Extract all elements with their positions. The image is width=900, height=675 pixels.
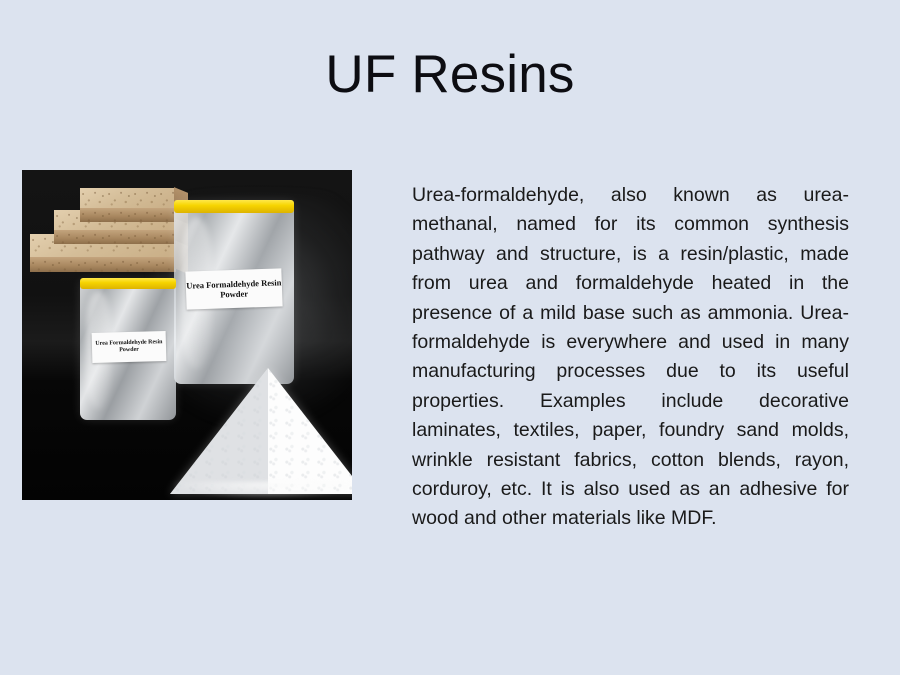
bag-seal-strip [174,200,294,213]
board-edge [80,208,176,222]
board-edge-texture [30,257,176,272]
powder-pile [170,362,352,494]
board-edge [54,230,176,244]
board-edge-texture [80,208,176,222]
board-top [80,188,176,222]
slide: UF Resins [0,0,900,675]
bag-label-large: Urea Formaldehyde Resin Powder [185,268,282,309]
board-edge [30,257,176,272]
bag-label-small: Urea Formaldehyde Resin Powder [92,331,167,363]
resin-bag-large: Urea Formaldehyde Resin Powder [174,202,294,384]
bag-seal-strip [80,278,176,289]
resin-bag-small: Urea Formaldehyde Resin Powder [80,280,176,420]
powder-base-reflection [172,482,352,498]
board-edge-texture [54,230,176,244]
page-title: UF Resins [0,46,900,104]
product-photo: Urea Formaldehyde Resin Powder Urea Form… [22,170,352,500]
board-texture [80,188,176,210]
body-paragraph: Urea-formaldehyde, also known as urea-me… [412,181,849,534]
board-face [80,188,176,210]
